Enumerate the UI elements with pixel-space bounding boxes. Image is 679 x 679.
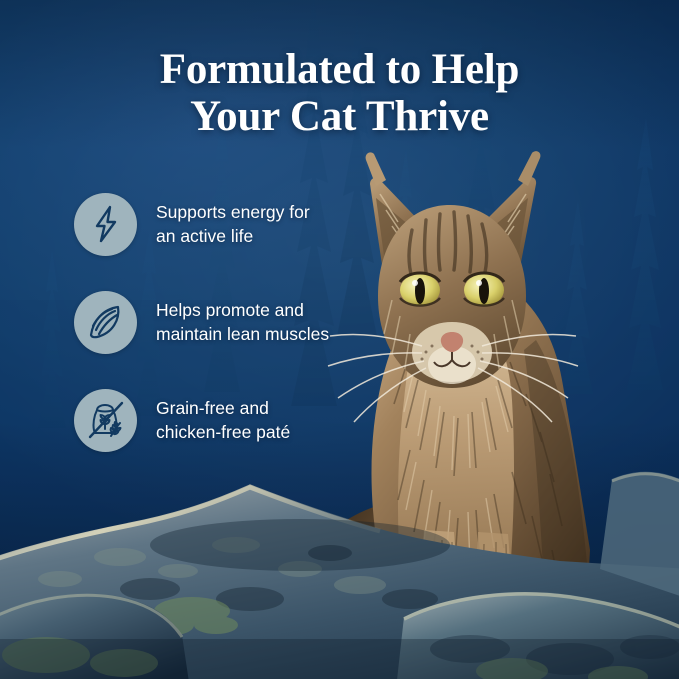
feature-list: Supports energy for an active life Helps… bbox=[74, 190, 374, 484]
feature-item-muscle: Helps promote and maintain lean muscles bbox=[74, 288, 374, 356]
feature-item-grain-free: Grain-free and chicken-free paté bbox=[74, 386, 374, 454]
page-title: Formulated to Help Your Cat Thrive bbox=[0, 46, 679, 140]
no-grain-sack-icon bbox=[74, 389, 137, 452]
feature-label-energy: Supports energy for an active life bbox=[156, 200, 310, 248]
product-feature-banner: Formulated to Help Your Cat Thrive Suppo… bbox=[0, 0, 679, 679]
lightning-bolt-icon bbox=[74, 193, 137, 256]
feature-item-energy: Supports energy for an active life bbox=[74, 190, 374, 258]
feature-label-muscle: Helps promote and maintain lean muscles bbox=[156, 298, 329, 346]
lean-muscle-icon bbox=[74, 291, 137, 354]
feature-label-grain-free: Grain-free and chicken-free paté bbox=[156, 396, 290, 444]
